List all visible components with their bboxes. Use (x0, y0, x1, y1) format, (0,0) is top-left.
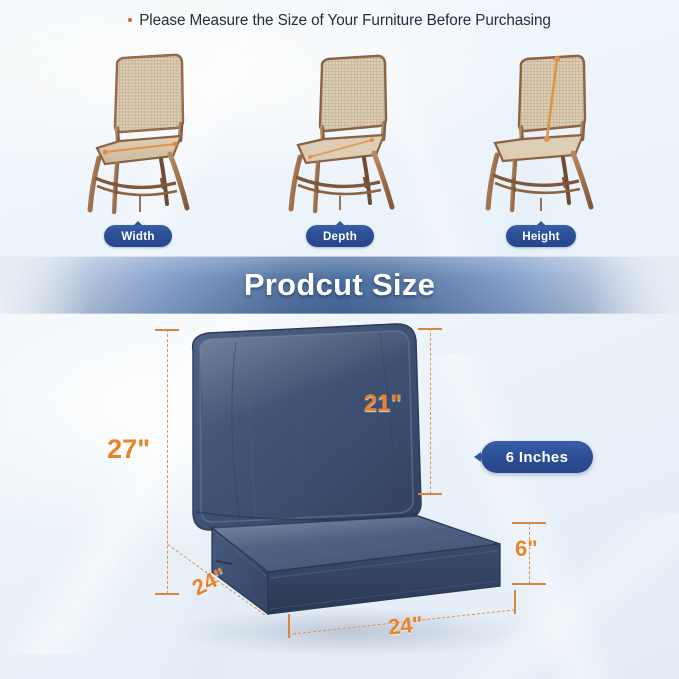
badge-connector-depth (339, 196, 341, 210)
badge-width: Width (104, 225, 172, 247)
dim-cap-back-height-bottom (418, 493, 442, 495)
badge-depth: Depth (306, 225, 374, 247)
badge-connector-width (139, 196, 141, 212)
instruction-text: Please Measure the Size of Your Furnitur… (139, 12, 551, 29)
banner-fade-left (0, 256, 90, 314)
chair-svg-height (479, 45, 607, 217)
product-size-banner: Prodcut Size (0, 256, 679, 314)
callout-label: 6 Inches (506, 449, 568, 466)
badge-height: Height (506, 225, 576, 247)
dim-cap-thickness-bottom (512, 583, 546, 585)
badge-connector-height (540, 198, 542, 211)
chair-svg-width (77, 44, 205, 216)
badge-depth-label: Depth (323, 230, 357, 243)
dim-cap-total-height-bottom (155, 593, 179, 595)
cushion-illustration (0, 314, 679, 679)
dim-line-back-height (430, 328, 431, 494)
bullet-dot-icon (128, 18, 132, 22)
badge-pointer-icon (134, 221, 142, 225)
badge-pointer-icon (537, 221, 545, 225)
dim-label-thickness: 6" (515, 536, 538, 562)
product-size-infographic: Please Measure the Size of Your Furnitur… (0, 0, 679, 679)
dim-label-width: 24" (387, 611, 424, 641)
dim-label-back-height: 21" (364, 390, 402, 418)
callout-6-inches: 6 Inches (481, 441, 593, 473)
instruction-headline: Please Measure the Size of Your Furnitur… (0, 12, 679, 30)
chair-illustration-width (77, 44, 205, 216)
badge-width-label: Width (121, 230, 154, 243)
measure-instruction-section: Please Measure the Size of Your Furnitur… (0, 0, 679, 256)
chair-svg-depth (280, 45, 408, 217)
dim-line-total-height (167, 329, 168, 594)
badge-height-label: Height (522, 230, 560, 243)
dim-cap-width-right (514, 590, 516, 614)
badge-pointer-icon (336, 221, 344, 225)
banner-fade-right (589, 256, 679, 314)
banner-title: Prodcut Size (0, 256, 679, 314)
dim-label-total-height: 27" (107, 434, 150, 465)
cushion-svg (0, 314, 679, 679)
product-dimensions-section: 27" 21" 6" 24" 24" 6 Inches (0, 314, 679, 679)
chair-illustration-depth (280, 45, 408, 217)
callout-arrow-icon (474, 452, 481, 462)
chair-illustration-height (479, 45, 607, 217)
